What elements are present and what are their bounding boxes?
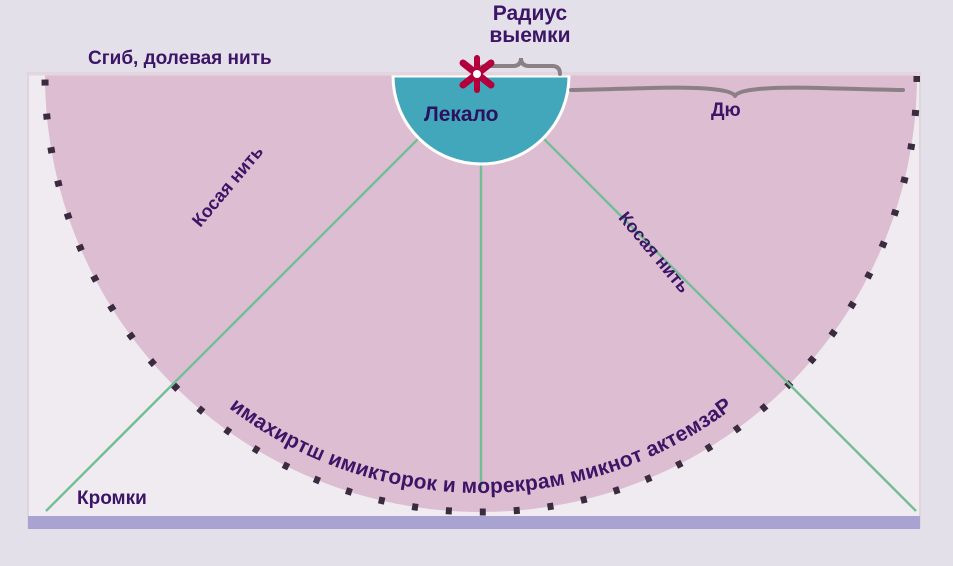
- fabric-layout-diagram: Сгиб, долевая нить Радиус выемки Дю Лека…: [0, 0, 953, 566]
- marking-note-char: к: [513, 473, 526, 498]
- label-notch-radius-line1: Радиус: [470, 3, 590, 25]
- selvage-bar: [28, 516, 920, 529]
- label-skirt-length: Дю: [711, 101, 741, 121]
- marking-note-char: и: [442, 473, 457, 498]
- marking-note-char: м: [461, 475, 477, 499]
- label-pattern-piece: Лекало: [424, 104, 499, 126]
- label-fold-grainline: Сгиб, долевая нить: [88, 49, 272, 69]
- marking-note-char: р: [490, 474, 504, 498]
- label-notch-radius: Радиус выемки: [470, 3, 590, 47]
- label-notch-radius-line2: выемки: [470, 25, 590, 47]
- marking-note-char: е: [502, 474, 515, 499]
- marking-note-char: о: [477, 475, 490, 499]
- label-selvages: Кромки: [77, 489, 147, 509]
